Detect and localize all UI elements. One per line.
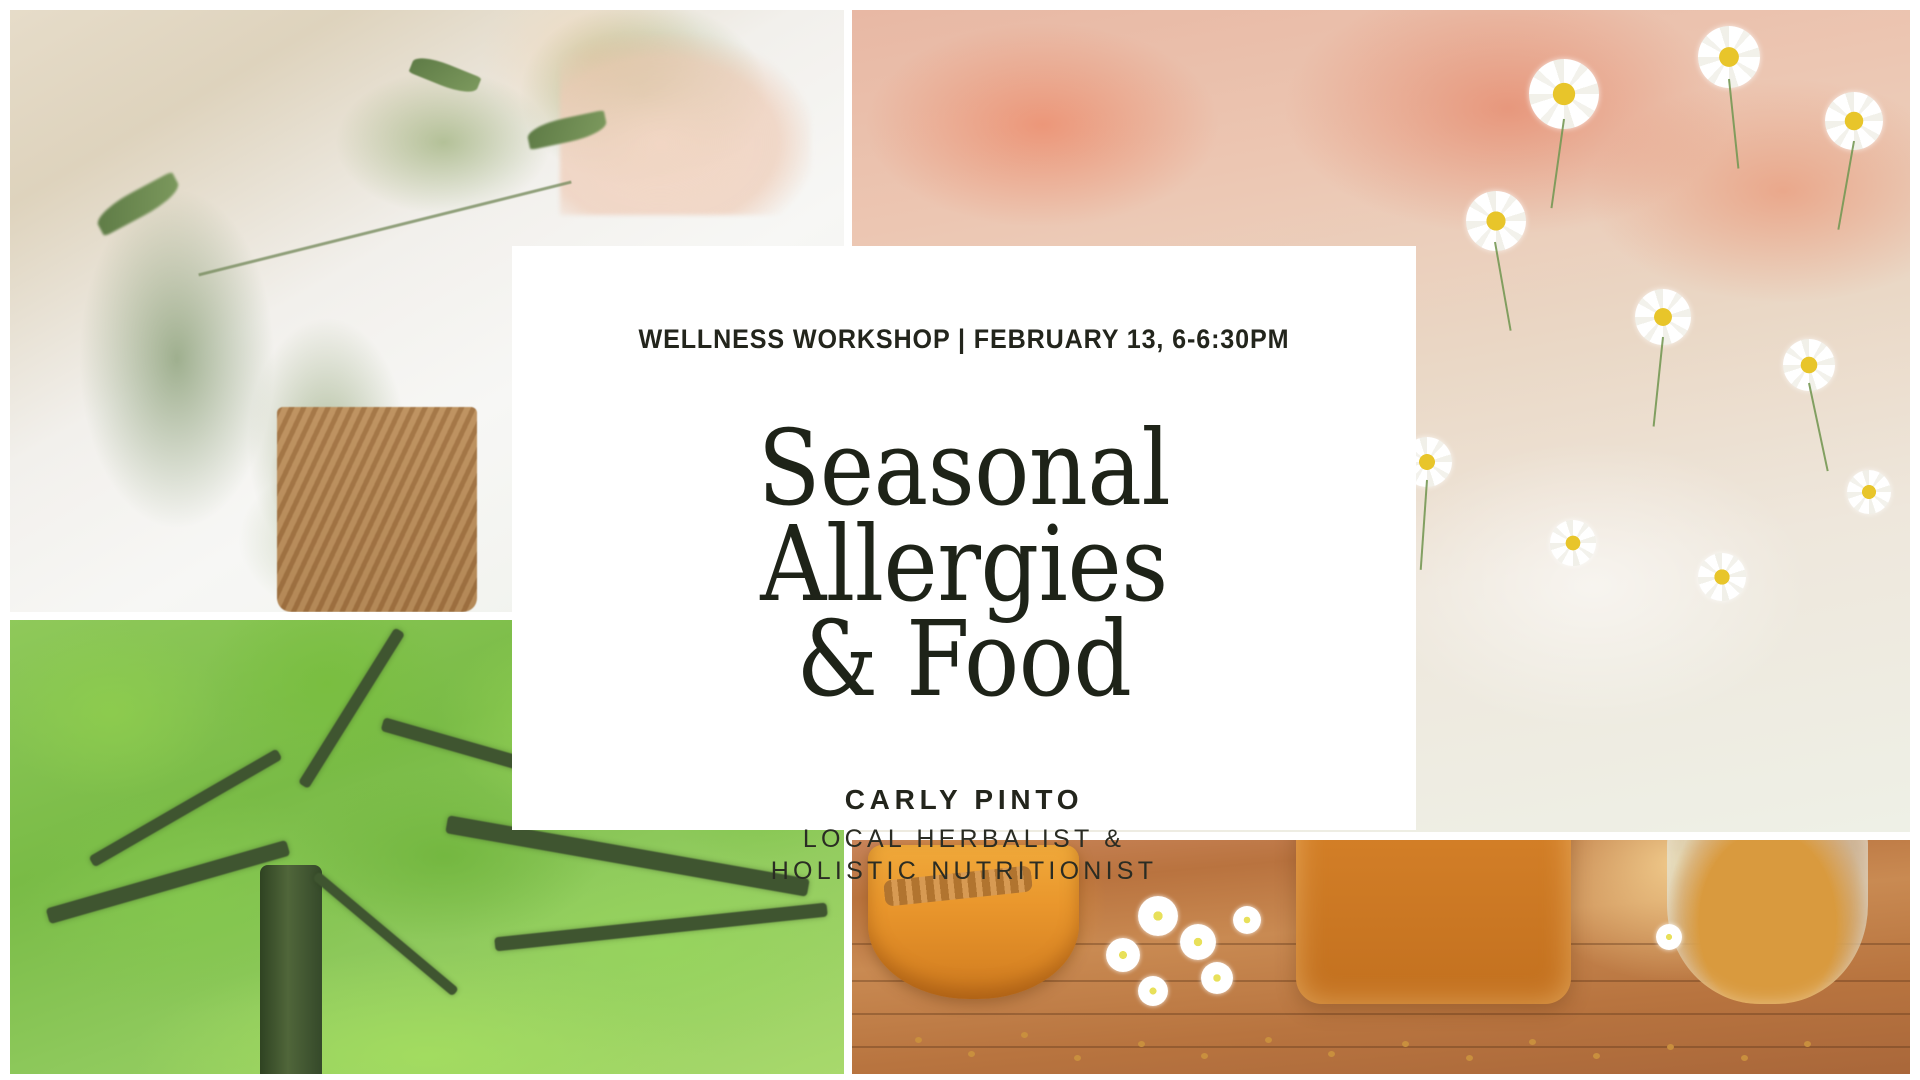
tree-branch: [88, 748, 282, 867]
woven-basket: [277, 407, 477, 612]
white-blossom: [1106, 938, 1140, 972]
presenter-role-line-2: HOLISTIC NUTRITIONIST: [771, 857, 1157, 885]
chamomile-daisy: [1466, 191, 1526, 251]
chamomile-daisy: [1550, 520, 1596, 566]
white-blossom: [1201, 962, 1233, 994]
white-blossom: [1138, 976, 1168, 1006]
chamomile-daisy: [1698, 26, 1760, 88]
presenter-role: LOCAL HERBALIST & HOLISTIC NUTRITIONIST: [771, 823, 1157, 887]
leaf-shape: [409, 52, 482, 99]
honey-jar-large: [1296, 840, 1571, 1004]
white-blossom: [1180, 924, 1216, 960]
chamomile-daisy: [1529, 59, 1599, 129]
presenter-block: CARLY PINTO LOCAL HERBALIST & HOLISTIC N…: [771, 784, 1157, 887]
chamomile-daisy: [1825, 92, 1883, 150]
title-line-1: Seasonal Allergies: [758, 407, 1171, 625]
bee-pollen-jar: [1667, 840, 1868, 1004]
chamomile-daisy: [1698, 553, 1746, 601]
leaf-shape: [93, 171, 185, 236]
hand-detail: [560, 34, 810, 215]
presenter-name: CARLY PINTO: [771, 784, 1157, 816]
workshop-eyebrow: WELLNESS WORKSHOP | FEBRUARY 13, 6-6:30P…: [639, 324, 1290, 355]
white-blossom: [1233, 906, 1261, 934]
chamomile-daisy: [1635, 289, 1691, 345]
presenter-role-line-1: LOCAL HERBALIST &: [803, 825, 1125, 853]
title-line-2: & Food: [796, 598, 1131, 720]
tree-branch: [46, 840, 291, 924]
tree-branch: [312, 871, 459, 997]
white-blossom: [1656, 924, 1682, 950]
leaf-shape: [525, 110, 608, 150]
tree-branch: [298, 627, 405, 789]
white-blossom: [1138, 896, 1178, 936]
chamomile-daisy: [1847, 470, 1891, 514]
page-title: Seasonal Allergies & Food: [616, 421, 1313, 708]
content-card: WELLNESS WORKSHOP | FEBRUARY 13, 6-6:30P…: [512, 246, 1416, 830]
poster-canvas: WELLNESS WORKSHOP | FEBRUARY 13, 6-6:30P…: [0, 0, 1920, 1080]
tree-branch: [494, 902, 827, 951]
tree-trunk: [260, 865, 322, 1074]
chamomile-daisy: [1783, 339, 1835, 391]
